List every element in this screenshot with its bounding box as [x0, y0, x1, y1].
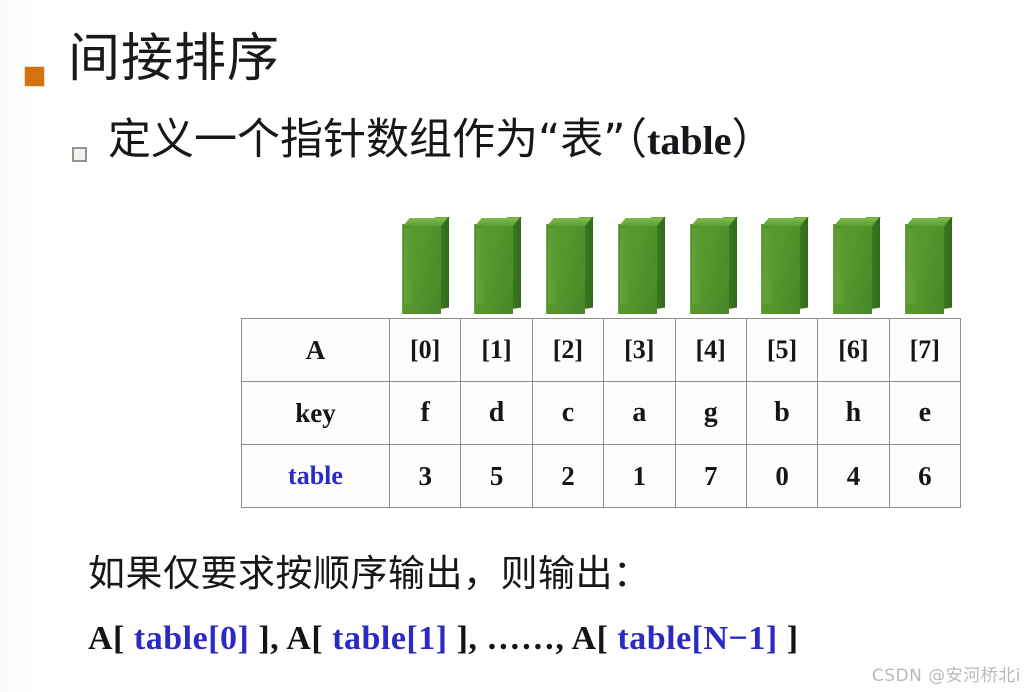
formula-table-n1: table[N−1] [617, 620, 777, 657]
bullet-square-icon [24, 66, 45, 87]
table-value-cell: 4 [818, 445, 889, 508]
key-cell: d [461, 382, 532, 445]
key-cell: g [675, 382, 746, 445]
formula-part-3: ], ……, A[ [448, 620, 618, 657]
index-cell: [0] [390, 319, 461, 382]
green-book-icon [674, 214, 746, 318]
table-row-table: table 35217046 [242, 445, 961, 508]
row-label-table: table [242, 445, 390, 508]
table-row-key: key fdcagbhe [242, 382, 961, 445]
table-value-cell: 1 [604, 445, 675, 508]
formula-part-1: A[ [88, 620, 134, 657]
formula-part-4: ] [778, 620, 799, 657]
row-label-key: key [242, 382, 390, 445]
row-label-a: A [242, 319, 390, 382]
formula-part-2: ], A[ [249, 620, 332, 657]
green-book-icon [458, 214, 530, 318]
key-cell: b [746, 382, 817, 445]
table-value-cell: 2 [532, 445, 603, 508]
footer-note: 如果仅要求按顺序输出，则输出： [88, 543, 651, 597]
index-cell: [7] [889, 319, 960, 382]
green-book-icon [745, 214, 817, 318]
green-book-icon [602, 214, 674, 318]
green-book-icon [817, 214, 889, 318]
formula-table-1: table[1] [332, 620, 447, 657]
key-cell: c [532, 382, 603, 445]
subtitle-cjk-after: ） [732, 115, 775, 165]
green-book-icon [386, 214, 458, 318]
array-table: A [0][1][2][3][4][5][6][7] key fdcagbhe … [241, 318, 961, 508]
table-value-cell: 5 [461, 445, 532, 508]
green-book-icon [889, 214, 961, 318]
table-value-cell: 3 [390, 445, 461, 508]
key-cell: h [818, 382, 889, 445]
index-cell: [5] [746, 319, 817, 382]
output-formula: A[ table[0] ], A[ table[1] ], ……, A[ tab… [88, 620, 799, 658]
subtitle: 定义一个指针数组作为“表”（table） [108, 118, 775, 163]
subtitle-cjk-before: 定义一个指针数组作为“表”（ [108, 115, 647, 165]
book-array-illustration [241, 214, 961, 318]
index-cell: [2] [532, 319, 603, 382]
key-cell: a [604, 382, 675, 445]
index-cell: [4] [675, 319, 746, 382]
table-value-cell: 6 [889, 445, 960, 508]
index-cell: [3] [604, 319, 675, 382]
csdn-watermark: CSDN @安河桥北i [872, 661, 1021, 686]
table-value-cell: 7 [675, 445, 746, 508]
key-cell: f [390, 382, 461, 445]
key-cell: e [889, 382, 960, 445]
green-book-icon [530, 214, 602, 318]
formula-table-0: table[0] [134, 620, 249, 657]
index-cell: [6] [818, 319, 889, 382]
table-value-cell: 0 [746, 445, 817, 508]
sub-bullet-square-icon [72, 147, 87, 162]
index-cell: [1] [461, 319, 532, 382]
page-title: 间接排序 [68, 32, 280, 87]
table-row-index: A [0][1][2][3][4][5][6][7] [242, 319, 961, 382]
subtitle-latin-table: table [647, 118, 731, 163]
slide-canvas: 间接排序 定义一个指针数组作为“表”（table） A [0][1][2][3]… [0, 0, 1031, 692]
